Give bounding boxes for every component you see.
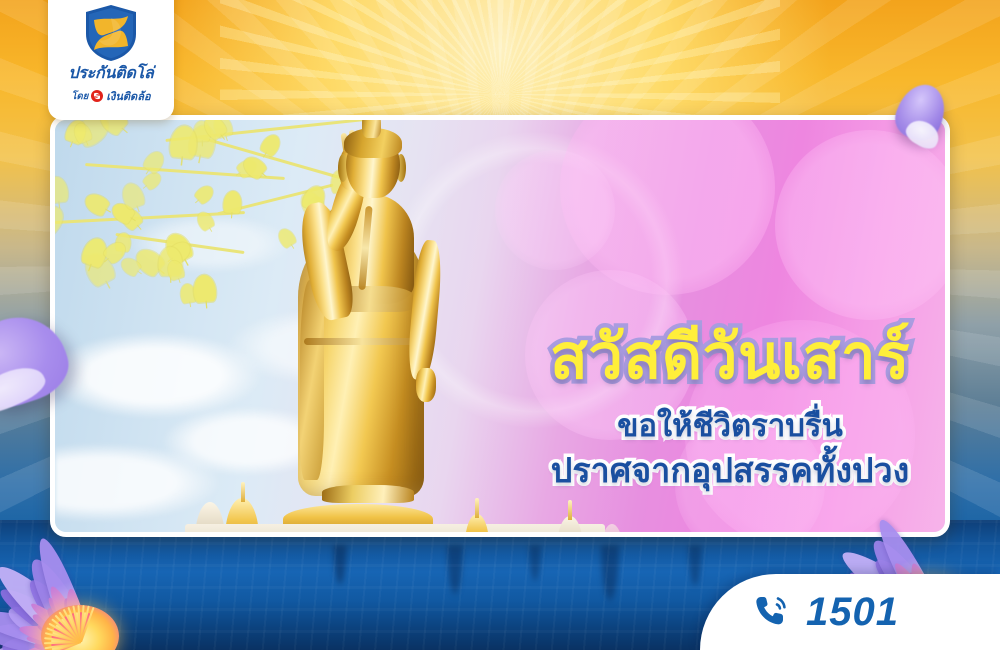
buddha-statue [270,120,495,530]
phone-call-icon [752,592,792,632]
page-title: สวัสดีวันเสาร์ [495,325,945,390]
shield-icon [84,4,138,62]
brand-partner-text: เงินติดล้อ [106,87,150,105]
brand-logo[interactable]: ประกันติดโล่ โดย เงินติดล้อ [48,0,174,120]
brand-logo-text: ประกันติดโล่ [48,66,174,82]
phone-number: 1501 [806,592,899,632]
brand-by-label: โดย [71,89,88,104]
banner-stage: สวัสดีวันเสาร์ ขอให้ชีวิตราบรื่น ปราศจาก… [0,0,1000,650]
phone-badge[interactable]: 1501 [700,574,1000,650]
bokeh-circle [495,150,615,270]
lotus-flower-bottom-left [0,452,230,650]
swirl-icon [91,90,103,102]
